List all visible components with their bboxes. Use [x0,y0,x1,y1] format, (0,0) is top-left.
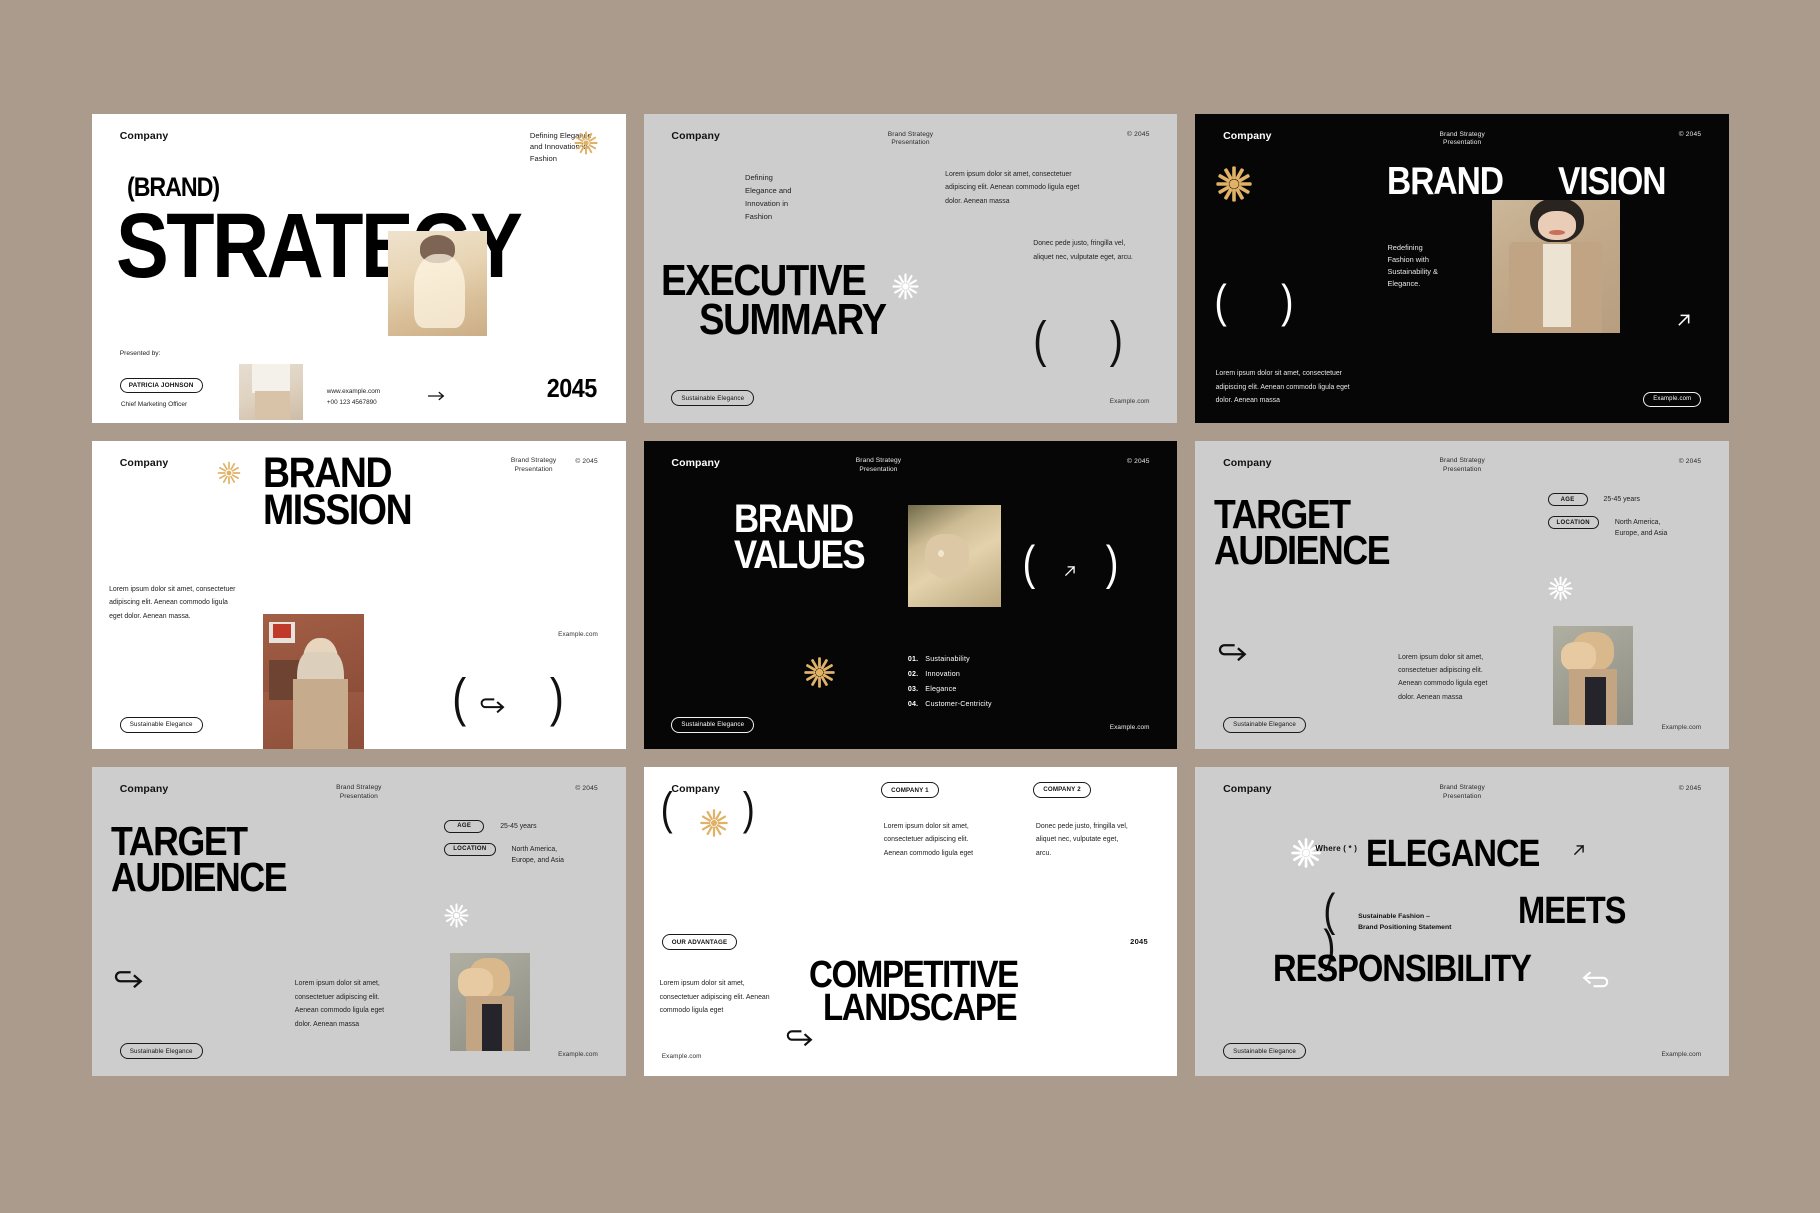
header-deck-title: Brand Strategy Presentation [511,457,556,474]
para-line-1: Lorem ipsum dolor sit amet, [295,977,384,990]
fact-value-line-1: North America, [512,846,558,853]
deck-line-1: Brand Strategy [856,457,901,466]
badge-sustainable-elegance[interactable]: Sustainable Elegance [1223,1043,1306,1059]
decorative-parens: ( ) [1033,320,1149,360]
slide8-column-1: Lorem ipsum dolor sit amet, consectetuer… [884,820,973,860]
tag-company-2[interactable]: COMPANY 2 [1033,782,1091,798]
starburst-icon [700,809,728,837]
para-line-3: dolor. Aenean massa [1216,394,1350,407]
deck-line-2: Presentation [1439,139,1484,148]
photo-model-blazer [1492,200,1620,333]
slide8-advantage-text: Lorem ipsum dolor sit amet, consectetuer… [660,977,770,1017]
tag-company-1[interactable]: COMPANY 1 [881,782,939,798]
slide1-contact: www.example.com +00 123 4567890 [327,387,380,408]
para-line-1: Lorem ipsum dolor sit amet, [1398,651,1487,664]
fact-value: 25-45 years [500,820,536,832]
slide8-column-2: Donec pede justo, fringilla vel, aliquet… [1036,820,1128,860]
para-line-1: Lorem ipsum dolor sit amet, consectetuer [109,583,235,596]
starburst-icon [892,273,919,300]
slide4-paragraph: Lorem ipsum dolor sit amet, consectetuer… [109,583,235,623]
tagline-line-3: Sustainability & [1387,266,1438,278]
starburst-icon [574,131,598,155]
header-year: © 2045 [1679,458,1702,465]
para-line-2: adipiscing elit. Aenean commodo ligula e… [1216,381,1350,394]
header-company: Company [1223,783,1272,795]
value-label: Customer-Centricity [925,700,991,708]
note-line-1: Sustainable Fashion – [1358,912,1451,923]
fact-value-line-2: Europe, and Asia [512,857,564,864]
header-deck-title: Brand Strategy Presentation [1439,784,1484,801]
photo-model-portrait [388,231,487,336]
arrow-up-right-icon[interactable] [1676,312,1692,328]
col2-line-2: aliquet nec, vulputate eget, [1036,833,1128,846]
fact-row-location: LOCATION North America, Europe, and Asia [444,843,564,866]
deck-line-2: Presentation [888,139,933,148]
fact-value-line-2: Europe, and Asia [1615,530,1667,537]
kicker-line-1: Defining [745,171,791,184]
slide3-title-brand: BRAND [1387,165,1503,199]
header-deck-title: Brand Strategy Presentation [1439,131,1484,148]
kicker-line-2: Elegance and [745,184,791,197]
footer-link[interactable]: Example.com [1110,398,1150,405]
slide2-kicker: Defining Elegance and Innovation in Fash… [745,171,791,223]
para-line-2: consectetuer adipiscing elit. [295,991,384,1004]
arrow-curved-right-icon[interactable] [785,1030,813,1048]
photo-hand-fabric [908,505,1001,607]
para-line-3: Aenean commodo ligula eget [295,1004,384,1017]
list-item: 02.Innovation [908,667,992,682]
slide6-facts: AGE 25-45 years LOCATION North America, … [1548,493,1668,549]
col1-line-2: consectetuer adipiscing elit. [884,833,973,846]
slide5-values-list: 01.Sustainability 02.Innovation 03.Elega… [908,652,992,712]
arrow-curved-right-icon[interactable] [113,971,143,990]
header-company: Company [120,783,169,795]
title-line-2: AUDIENCE [111,859,286,895]
slide-elegance-meets-responsibility[interactable]: Company Brand Strategy Presentation © 20… [1195,767,1729,1076]
header-company: Company [1223,130,1272,142]
slide5-title: BRAND VALUES [734,502,884,572]
starburst-icon [217,461,241,485]
tagline-line-1: Redefining [1387,242,1438,254]
fact-value-line-1: North America, [1615,519,1661,526]
slide1-presented-label: Presented by: [120,350,161,357]
fact-row-location: LOCATION North America, Europe, and Asia [1548,516,1668,539]
value-number: 03. [908,685,918,693]
footer-link[interactable]: Example.com [662,1053,702,1060]
arrow-curved-right-icon[interactable] [479,698,505,715]
value-number: 01. [908,655,918,663]
value-label: Sustainability [925,655,970,663]
deck-line-1: Brand Strategy [1439,784,1484,793]
slide-target-audience-b[interactable]: Company Brand Strategy Presentation © 20… [92,767,626,1076]
decorative-parens: ( ) [452,677,600,719]
header-company: Company [120,130,169,142]
fact-key: AGE [1548,493,1588,506]
arrow-up-right-icon[interactable] [1063,564,1077,578]
slide-brand-values[interactable]: Company Brand Strategy Presentation © 20… [644,441,1178,750]
starburst-icon [1548,576,1573,601]
header-year: © 2045 [1679,785,1702,792]
title-line-2: VALUES [734,538,864,573]
para-line-4: dolor. Aenean massa [1398,691,1487,704]
slide9-note: Sustainable Fashion – Brand Positioning … [1358,912,1451,934]
slide1-phone: +00 123 4567890 [327,398,380,409]
slide4-title: BRAND MISSION [263,455,433,531]
para-line-2: adipiscing elit. Aenean commodo ligula [109,596,235,609]
footer-link-badge[interactable]: Example.com [1643,392,1701,407]
badge-sustainable-elegance[interactable]: Sustainable Elegance [120,717,203,733]
photo-model-seated [239,364,303,420]
slide9-title-line-2: MEETS [1518,895,1625,928]
adv-line-2: consectetuer adipiscing elit. Aenean [660,991,770,1004]
photo-model-hand-face [1553,626,1633,725]
kicker-line-3: Innovation in [745,197,791,210]
para-b-line-1: Donec pede justo, fringilla vel, [1033,237,1133,250]
slide1-presenter-role: Chief Marketing Officer [121,401,187,408]
fact-value: North America, Europe, and Asia [512,843,564,866]
footer-link[interactable]: Example.com [558,1051,598,1058]
header-company: Company [671,457,720,469]
header-year: © 2045 [1679,131,1702,138]
fact-value: North America, Europe, and Asia [1615,516,1667,539]
slide2-paragraph-b: Donec pede justo, fringilla vel, aliquet… [1033,237,1133,264]
header-company: Company [671,130,720,142]
para-a-line-3: dolor. Aenean massa [945,195,1079,208]
slide-executive-summary[interactable]: Company Brand Strategy Presentation © 20… [644,114,1178,423]
title-line-2: MISSION [263,492,411,530]
footer-link[interactable]: Example.com [1661,1051,1701,1058]
slide-target-audience-a[interactable]: Company Brand Strategy Presentation © 20… [1195,441,1729,750]
title-line-2: SUMMARY [699,301,870,340]
list-item: 01.Sustainability [908,652,992,667]
arrow-right-icon[interactable] [428,390,445,402]
slide8-year: 2045 [1130,937,1148,946]
slide6-title: TARGET AUDIENCE [1214,496,1415,568]
header-year: © 2045 [575,785,598,792]
slide7-paragraph: Lorem ipsum dolor sit amet, consectetuer… [295,977,384,1031]
fact-key: LOCATION [444,843,495,856]
slide3-tagline: Redefining Fashion with Sustainability &… [1387,242,1438,290]
value-number: 02. [908,670,918,678]
header-deck-title: Brand Strategy Presentation [1439,457,1484,474]
slide1-website[interactable]: www.example.com [327,387,380,398]
para-b-line-2: aliquet nec, vulputate eget, arcu. [1033,251,1133,264]
adv-line-3: commodo ligula eget [660,1004,770,1017]
header-deck-title: Brand Strategy Presentation [336,784,381,801]
title-line-2: LANDSCAPE [823,992,1019,1025]
kicker-line-4: Fashion [745,210,791,223]
arrow-curved-left-icon[interactable] [1582,969,1610,988]
tag-our-advantage[interactable]: OUR ADVANTAGE [662,934,737,950]
fact-key: AGE [444,820,484,833]
fact-key: LOCATION [1548,516,1599,529]
footer-link[interactable]: Example.com [558,631,598,638]
header-year: © 2045 [575,458,598,465]
deck-line-1: Brand Strategy [511,457,556,466]
slide3-paragraph: Lorem ipsum dolor sit amet, consectetuer… [1216,367,1350,407]
slide3-title-vision: VISION [1558,165,1666,199]
deck-line-2: Presentation [856,466,901,475]
fact-row-age: AGE 25-45 years [444,820,564,833]
slide1-presenter-badge[interactable]: PATRICIA JOHNSON [120,378,203,393]
badge-sustainable-elegance[interactable]: Sustainable Elegance [120,1043,203,1059]
value-number: 04. [908,700,918,708]
photo-model-street [263,614,364,750]
slide7-title: TARGET AUDIENCE [111,823,312,895]
slide-brand-vision[interactable]: Company Brand Strategy Presentation © 20… [1195,114,1729,423]
photo-model-hand-face [450,953,530,1052]
starburst-icon [1216,166,1252,202]
col1-line-1: Lorem ipsum dolor sit amet, [884,820,973,833]
slide-competitive-landscape[interactable]: Company ( ) COMPANY 1 Lorem ipsum dolor … [644,767,1178,1076]
slide9-title-line-1: ELEGANCE [1366,838,1539,871]
para-line-3: Aenean commodo ligula eget [1398,677,1487,690]
arrow-up-right-icon[interactable] [1572,843,1586,857]
slide9-where-label: Where ( * ) [1315,844,1357,853]
note-line-2: Brand Positioning Statement [1358,923,1451,934]
deck-line-1: Brand Strategy [888,131,933,140]
list-item: 03.Elegance [908,682,992,697]
slide9-title-line-3: RESPONSIBILITY [1273,953,1531,986]
adv-line-1: Lorem ipsum dolor sit amet, [660,977,770,990]
list-item: 04.Customer-Centricity [908,697,992,712]
tagline-line-2: Fashion with [1387,254,1438,266]
para-line-2: consectetuer adipiscing elit. [1398,664,1487,677]
fact-value: 25-45 years [1604,493,1640,505]
slide8-title: COMPETITIVE LANDSCAPE [809,959,1049,1026]
para-line-1: Lorem ipsum dolor sit amet, consectetuer [1216,367,1350,380]
header-company: Company [1223,457,1272,469]
para-a-line-1: Lorem ipsum dolor sit amet, consectetuer [945,168,1079,181]
starburst-icon [444,903,469,928]
fact-row-age: AGE 25-45 years [1548,493,1668,506]
header-deck-title: Brand Strategy Presentation [856,457,901,474]
badge-sustainable-elegance[interactable]: Sustainable Elegance [671,717,754,733]
arrow-curved-right-icon[interactable] [1217,644,1247,663]
badge-sustainable-elegance[interactable]: Sustainable Elegance [1223,717,1306,733]
deck-line-2: Presentation [1439,793,1484,802]
deck-line-1: Brand Strategy [336,784,381,793]
para-line-4: dolor. Aenean massa [295,1018,384,1031]
header-company: Company [120,457,169,469]
slide6-paragraph: Lorem ipsum dolor sit amet, consectetuer… [1398,651,1487,705]
deck-line-1: Brand Strategy [1439,457,1484,466]
col2-line-3: arcu. [1036,847,1128,860]
col2-line-1: Donec pede justo, fringilla vel, [1036,820,1128,833]
deck-line-2: Presentation [336,793,381,802]
starburst-icon [804,657,835,688]
decorative-parens: ( ) [1023,545,1149,583]
slide2-paragraph-a: Lorem ipsum dolor sit amet, consectetuer… [945,168,1079,208]
header-year: © 2045 [1127,131,1150,138]
deck-line-2: Presentation [511,466,556,475]
slide-grid: Company Defining Elegance and Innovation… [92,114,1729,1076]
slide2-title: EXECUTIVE SUMMARY [661,262,896,339]
tagline-line-4: Elegance. [1387,278,1438,290]
footer-link[interactable]: Example.com [1661,724,1701,731]
footer-link[interactable]: Example.com [1110,724,1150,731]
slide-brand-strategy[interactable]: Company Defining Elegance and Innovation… [92,114,626,423]
slide1-year: 2045 [546,373,596,404]
header-year: © 2045 [1127,458,1150,465]
slide-brand-mission[interactable]: Company Brand Strategy Presentation © 20… [92,441,626,750]
header-deck-title: Brand Strategy Presentation [888,131,933,148]
slide7-facts: AGE 25-45 years LOCATION North America, … [444,820,564,876]
deck-line-2: Presentation [1439,466,1484,475]
para-a-line-2: adipiscing elit. Aenean commodo ligula e… [945,181,1079,194]
badge-sustainable-elegance[interactable]: Sustainable Elegance [671,390,754,406]
value-label: Innovation [925,670,960,678]
para-line-3: eget dolor. Aenean massa. [109,610,235,623]
deck-line-1: Brand Strategy [1439,131,1484,140]
title-line-2: AUDIENCE [1214,532,1389,568]
value-label: Elegance [925,685,956,693]
decorative-parens: ( ) [1215,283,1316,320]
col1-line-3: Aenean commodo ligula eget [884,847,973,860]
